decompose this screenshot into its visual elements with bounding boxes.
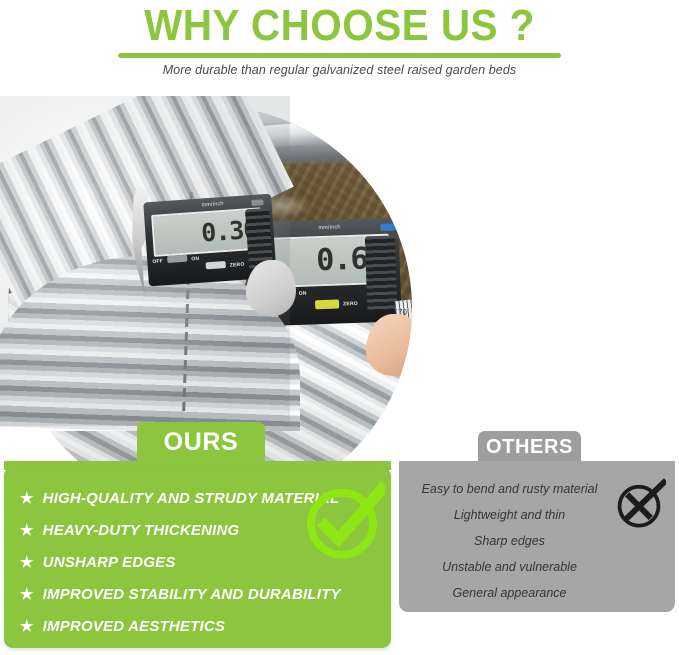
list-item-label: IMPROVED AESTHETICS bbox=[43, 618, 225, 635]
caliper-grip bbox=[365, 235, 398, 310]
list-item: General appearance bbox=[407, 580, 612, 606]
badge-ours-label: OURS bbox=[164, 428, 239, 457]
photo-comparison-area: mm/inch 0.60 mm OFF ON ZERO 70 bbox=[0, 96, 679, 468]
list-item: ★ IMPROVED STABILITY AND DURABILITY bbox=[20, 578, 380, 610]
list-item: ★ IMPROVED AESTHETICS bbox=[20, 610, 380, 642]
list-item-label: HEAVY-DUTY THICKENING bbox=[43, 522, 240, 539]
x-circle-icon bbox=[612, 477, 666, 531]
star-icon: ★ bbox=[20, 521, 34, 539]
badge-others-label: OTHERS bbox=[486, 436, 573, 459]
list-item: Easy to bend and rusty material bbox=[407, 476, 612, 502]
page-subtitle: More durable than regular galvanized ste… bbox=[0, 63, 679, 77]
caliper-blue-button[interactable] bbox=[380, 223, 396, 231]
caliper-on-button[interactable] bbox=[206, 261, 226, 269]
infographic-page: WHY CHOOSE US ? More durable than regula… bbox=[0, 0, 679, 655]
others-product-photo: mm/inch 0.30 mm OFF ON ZERO bbox=[0, 96, 290, 426]
caliper-off-label: OFF bbox=[152, 258, 163, 265]
list-item: Unstable and vulnerable bbox=[407, 554, 612, 580]
page-title: WHY CHOOSE US ? bbox=[27, 2, 652, 50]
others-drawbacks-panel: Easy to bend and rusty material Lightwei… bbox=[399, 464, 675, 612]
caliper-mode-label: mm/inch bbox=[201, 201, 224, 209]
caliper-blue-button[interactable] bbox=[251, 199, 263, 206]
header: WHY CHOOSE US ? More durable than regula… bbox=[0, 0, 679, 96]
caliper-on-label: ON bbox=[299, 291, 307, 297]
list-item-label: HIGH-QUALITY AND STRUDY MATERIAL bbox=[43, 490, 340, 507]
caliper-mode-label: mm/inch bbox=[318, 224, 340, 231]
title-underline bbox=[118, 53, 561, 58]
list-item-label: IMPROVED STABILITY AND DURABILITY bbox=[43, 586, 341, 603]
hand bbox=[246, 260, 290, 316]
list-item: Sharp edges bbox=[407, 528, 612, 554]
caliper-zero-label: ZERO bbox=[230, 262, 245, 269]
check-circle-icon bbox=[299, 479, 385, 565]
badge-ours: OURS bbox=[137, 422, 265, 463]
badge-others: OTHERS bbox=[478, 431, 581, 464]
caliper-on-button[interactable] bbox=[315, 299, 339, 309]
caliper-off-button[interactable] bbox=[167, 255, 187, 263]
others-drawback-list: Easy to bend and rusty material Lightwei… bbox=[407, 476, 612, 606]
list-item: Lightweight and thin bbox=[407, 502, 612, 528]
caliper-upper-jaw bbox=[126, 184, 148, 294]
hand bbox=[366, 314, 412, 376]
star-icon: ★ bbox=[20, 617, 34, 635]
caliper-on-label: ON bbox=[191, 256, 199, 263]
star-icon: ★ bbox=[20, 553, 34, 571]
list-item-label: UNSHARP EDGES bbox=[43, 554, 176, 571]
caliper-zero-label: ZERO bbox=[343, 301, 358, 308]
star-icon: ★ bbox=[20, 585, 34, 603]
caliper-right: mm/inch 0.30 mm OFF ON ZERO bbox=[120, 184, 290, 314]
ours-benefits-panel: ★ HIGH-QUALITY AND STRUDY MATERIAL ★ HEA… bbox=[4, 467, 391, 648]
star-icon: ★ bbox=[20, 489, 34, 507]
